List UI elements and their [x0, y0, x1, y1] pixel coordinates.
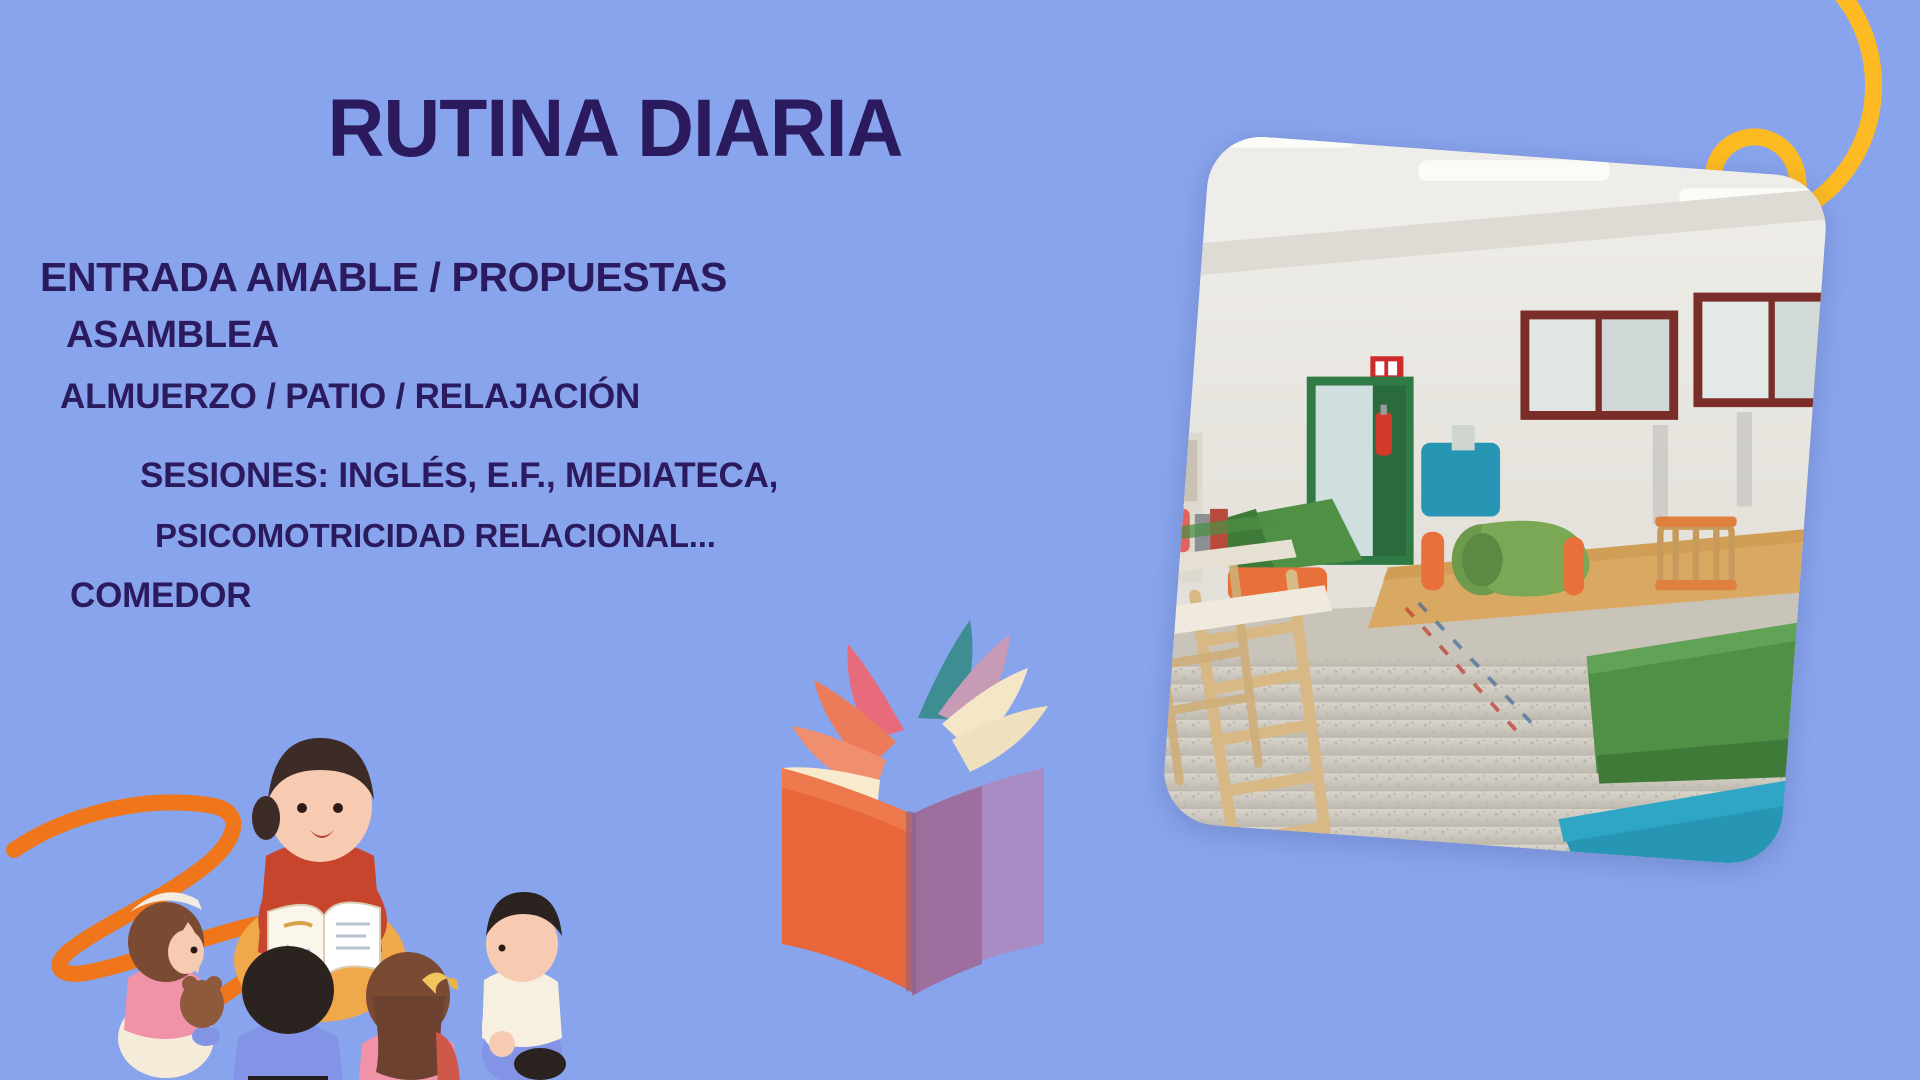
routine-item: ENTRADA AMABLE / PROPUESTAS	[0, 248, 1100, 308]
daily-routine-list: ENTRADA AMABLE / PROPUESTAS ASAMBLEA ALM…	[0, 248, 1100, 621]
routine-item: ALMUERZO / PATIO / RELAJACIÓN	[0, 371, 1100, 422]
routine-item: SESIONES: INGLÉS, E.F., MEDIATECA,	[0, 450, 1100, 501]
psychomotricity-room-photo	[1161, 133, 1830, 867]
routine-item: PSICOMOTRICIDAD RELACIONAL...	[0, 512, 1100, 560]
slide-canvas: RUTINA DIARIA ENTRADA AMABLE / PROPUESTA…	[0, 0, 1920, 1080]
teacher-reading-to-children-illustration	[70, 660, 600, 1080]
watercolor-open-book-illustration	[690, 590, 1140, 1010]
routine-item: ASAMBLEA	[0, 308, 1100, 363]
page-title: RUTINA DIARIA	[25, 88, 1206, 170]
room-photo-image	[1161, 133, 1830, 867]
